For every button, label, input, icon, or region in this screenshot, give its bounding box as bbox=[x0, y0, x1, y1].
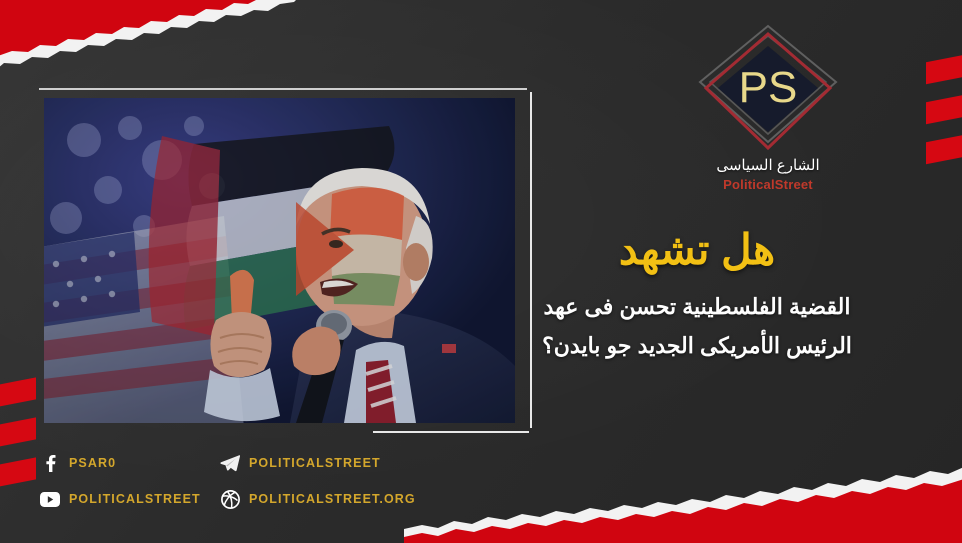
social-label-telegram: POLITICALSTREET bbox=[249, 456, 381, 470]
biden-palestine-photo bbox=[44, 98, 515, 423]
torn-paper-top-left bbox=[0, 0, 518, 78]
logo-name-english: PoliticalStreet bbox=[668, 177, 868, 192]
torn-red-layer-top bbox=[0, 0, 260, 56]
social-label-facebook: PSAR0 bbox=[69, 456, 116, 470]
telegram-icon bbox=[220, 453, 240, 473]
red-dash-marks-left bbox=[0, 382, 36, 502]
red-dash bbox=[926, 94, 962, 125]
red-dash bbox=[926, 54, 962, 85]
torn-white-layer-top bbox=[0, 0, 298, 68]
globe-icon bbox=[220, 489, 240, 509]
photo-frame bbox=[35, 88, 532, 433]
red-dash bbox=[0, 417, 36, 448]
frame-line-bottom bbox=[373, 431, 529, 433]
torn-paper-bottom-right bbox=[404, 457, 962, 543]
social-label-website: POLITICALSTREET.ORG bbox=[249, 492, 416, 506]
social-link-youtube[interactable]: POLITICALSTREET bbox=[40, 481, 190, 517]
red-dash bbox=[0, 377, 36, 408]
frame-line-top bbox=[39, 88, 527, 90]
headline-line-2: الرئيس الأمريكى الجديد جو بايدن؟ bbox=[462, 327, 932, 366]
headline-line-1: القضية الفلسطينية تحسن فى عهد bbox=[462, 288, 932, 327]
brand-logo[interactable]: PS الشارع السياسى PoliticalStreet bbox=[668, 20, 868, 200]
logo-diamond-mark: PS bbox=[668, 20, 868, 160]
social-label-youtube: POLITICALSTREET bbox=[69, 492, 201, 506]
red-dash bbox=[0, 457, 36, 488]
social-link-telegram[interactable]: POLITICALSTREET bbox=[220, 445, 416, 481]
youtube-icon bbox=[40, 489, 60, 509]
social-link-website[interactable]: POLITICALSTREET.ORG bbox=[220, 481, 416, 517]
social-links-bar: PSAR0 POLITICALSTREET POLITICALSTREET bbox=[40, 445, 416, 517]
red-dash-marks-right bbox=[926, 58, 962, 178]
social-link-facebook[interactable]: PSAR0 bbox=[40, 445, 190, 481]
facebook-icon bbox=[40, 453, 60, 473]
torn-red-layer-bottom bbox=[404, 479, 962, 543]
torn-white-layer-bottom bbox=[404, 467, 962, 543]
poster-canvas: PS الشارع السياسى PoliticalStreet هل تشه… bbox=[0, 0, 962, 543]
red-dash bbox=[926, 134, 962, 165]
headline-kicker: هل تشهد bbox=[462, 228, 932, 272]
logo-monogram: PS bbox=[739, 63, 798, 112]
headline-block: هل تشهد القضية الفلسطينية تحسن فى عهد ال… bbox=[462, 228, 932, 365]
